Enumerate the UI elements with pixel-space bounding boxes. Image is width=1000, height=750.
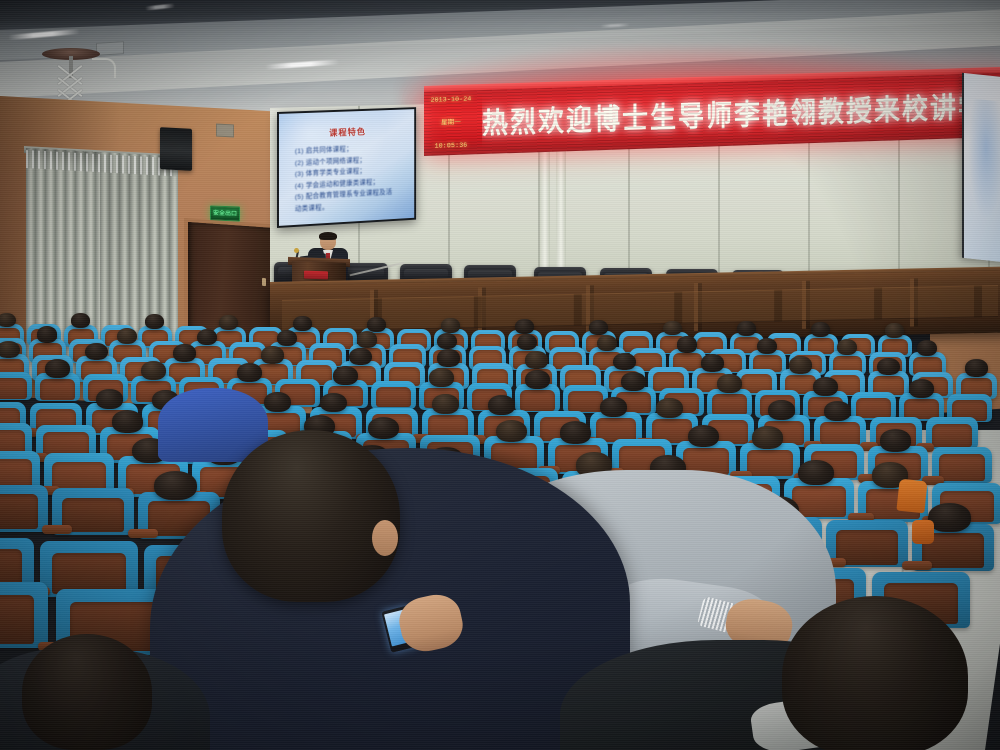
audience-member-head (333, 366, 358, 385)
led-weekday: 星期一 (441, 120, 461, 127)
audience-member-head (441, 318, 460, 333)
audience-member-head (432, 394, 459, 414)
audience-member-head (525, 351, 548, 369)
student-dark-coat-left-head (22, 634, 152, 750)
audience-member-head (349, 348, 372, 366)
auditorium-seat[interactable] (926, 417, 978, 449)
audience-member-head (717, 374, 742, 393)
auditorium-seat[interactable] (0, 372, 32, 400)
audience-member-head (141, 361, 166, 380)
audience-member-head (928, 503, 971, 532)
audience-member-head (917, 340, 937, 356)
slide-bullet-list: (1) 启共同体课程； (2) 运动个项网络课程； (3) 体育学类专业课程； … (295, 141, 407, 214)
led-time: 10:05:36 (435, 142, 468, 150)
seat-back-panel (747, 450, 793, 477)
audience-member-head (219, 315, 238, 330)
auditorium-seat[interactable] (0, 582, 48, 648)
audience-member-head (429, 368, 454, 387)
seat-back-panel (0, 494, 38, 529)
audience-member-head (824, 401, 851, 421)
audience-member-head (613, 353, 636, 371)
led-datetime-display: 2013-10-24 星期一 10:05:36 (427, 96, 475, 150)
audience-member-head (45, 359, 70, 378)
door-knob-icon[interactable] (262, 278, 266, 286)
led-banner-text: 热烈欢迎博士生导师李艳翎教授来校讲学 (482, 77, 1000, 148)
audience-member-head (237, 363, 262, 382)
seat-back-panel (856, 398, 890, 419)
audience-member-head (768, 400, 795, 420)
audience-member-head (96, 389, 123, 409)
audience-member-head (517, 334, 537, 350)
audience-member-head (368, 417, 399, 439)
audience-member-head (589, 320, 608, 335)
audience-member-head (688, 425, 719, 447)
presenter-hair (319, 232, 337, 240)
audience-member-head (197, 329, 217, 345)
audience-member-head (600, 397, 627, 417)
audience-member-head (437, 349, 460, 367)
audience-member-head (515, 319, 534, 334)
audience-member-head (877, 358, 900, 376)
audience-member-head (798, 460, 834, 485)
audience-member-head (752, 426, 783, 448)
audience-member-head (621, 372, 646, 391)
seat-armrest (128, 529, 158, 538)
audience-member-head (811, 322, 830, 337)
wall-speaker-icon (160, 127, 192, 171)
audience-member-head (880, 429, 911, 451)
audience-member-head (154, 471, 197, 500)
audience-member-head (0, 341, 20, 359)
seat-back-panel (376, 387, 410, 408)
wall-vent (216, 124, 234, 138)
audience-member-head (813, 377, 838, 396)
seat-back-panel (0, 595, 34, 644)
audience-member-head (837, 339, 857, 355)
audience-member-head (264, 392, 291, 412)
audience-member-head (789, 356, 812, 374)
seat-back-panel (939, 454, 985, 481)
main-projection-screen: 课程特色 (1) 启共同体课程； (2) 运动个项网络课程； (3) 体育学类专… (277, 107, 416, 228)
audience-member-head (965, 359, 988, 377)
seat-back-panel (40, 379, 74, 400)
seat-back-panel (820, 422, 860, 446)
audience-member-head (885, 323, 904, 338)
audience-member-head (757, 338, 777, 354)
audience-member-head (525, 370, 550, 389)
lecture-hall-photo: 安全出口 2013-10-24 星期一 10:05:36 热烈欢迎博士生导师李艳… (0, 0, 1000, 750)
audience-member-head (701, 354, 724, 372)
auditorium-seat[interactable] (371, 381, 416, 409)
audience-member-head (85, 343, 108, 361)
seat-back-panel (568, 391, 602, 412)
seat-armrest (42, 525, 72, 534)
audience-member-head (597, 335, 617, 351)
audience-member-head (117, 328, 137, 344)
student-navy-jacket-head (222, 430, 400, 602)
led-date: 2013-10-24 (430, 96, 471, 104)
auditorium-seat[interactable] (0, 485, 48, 532)
seat-back-panel (712, 394, 746, 415)
audience-member-head (437, 333, 457, 349)
student-black-jacket-head (782, 596, 968, 750)
orange-bag (896, 479, 927, 514)
audience-member-head (496, 420, 527, 442)
seat-back-panel (520, 390, 554, 411)
podium-nameplate (304, 271, 328, 280)
audience-member-head (367, 317, 386, 332)
orange-bag (912, 520, 934, 544)
audience-member-head (320, 393, 347, 413)
audience-member-head (145, 314, 164, 329)
audience-member-head (560, 421, 591, 443)
audience-member-head (71, 313, 90, 328)
seat-armrest (902, 561, 932, 570)
exit-sign-label: 安全出口 (213, 210, 237, 217)
audience-member-head (357, 331, 377, 347)
projector-cable-hook (92, 58, 116, 78)
audience-member-head (37, 326, 57, 342)
audience-member-head (677, 336, 697, 352)
audience-member-head (173, 344, 196, 362)
seat-back-panel (932, 424, 972, 448)
audience-member-head (663, 321, 682, 336)
audience-member-head (277, 330, 297, 346)
audience-member-head (293, 316, 312, 331)
seat-back-panel (52, 553, 126, 594)
audience-member-head (488, 395, 515, 415)
audience-member-head (909, 379, 934, 398)
seat-back-panel (0, 378, 27, 399)
student-navy-jacket-ear (372, 520, 398, 556)
exit-sign: 安全出口 (210, 205, 240, 221)
audience-member-head (112, 410, 143, 432)
secondary-screen-glow (968, 98, 1000, 222)
podium-microphone-head-icon (294, 248, 299, 253)
audience-member-head (737, 321, 756, 336)
audience-member-head (656, 398, 683, 418)
audience-member-head (261, 346, 284, 364)
